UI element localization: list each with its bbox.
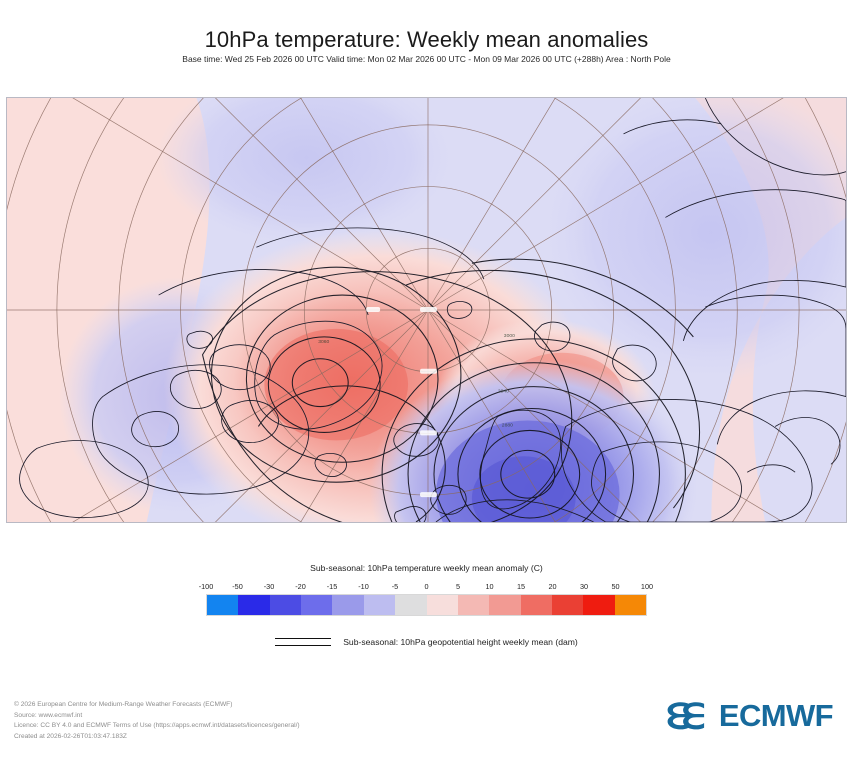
colorbar-swatch-13 <box>615 595 646 615</box>
colorbar-block: Sub-seasonal: 10hPa temperature weekly m… <box>0 563 853 616</box>
colorbar-tick-30: 30 <box>580 582 588 591</box>
colorbar-tick-20: 20 <box>548 582 556 591</box>
colorbar[interactable]: -100-50-30-20-15-10-5051015203050100 <box>206 582 647 616</box>
ecmwf-logo-text: ECMWF <box>719 700 833 731</box>
chart-subtitle: Base time: Wed 25 Feb 2026 00 UTC Valid … <box>0 54 853 64</box>
colorbar-swatch-6 <box>395 595 426 615</box>
colorbar-swatches <box>206 594 647 616</box>
colorbar-tick-10: 10 <box>485 582 493 591</box>
contour-line-sample-icon <box>275 636 331 648</box>
footer-line-copyright: © 2026 European Centre for Medium-Range … <box>14 700 300 711</box>
colorbar-swatch-3 <box>301 595 332 615</box>
colorbar-tick-labels: -100-50-30-20-15-10-5051015203050100 <box>206 582 647 594</box>
ecmwf-logo: ECMWF <box>666 700 833 731</box>
colorbar-tick--5: -5 <box>392 582 399 591</box>
chart-page: 10hPa temperature: Weekly mean anomalies… <box>0 0 853 768</box>
colorbar-swatch-11 <box>552 595 583 615</box>
ecmwf-emblem-icon <box>666 701 712 731</box>
page-title: 10hPa temperature: Weekly mean anomalies <box>0 27 853 53</box>
colorbar-swatch-2 <box>270 595 301 615</box>
svg-text:2940: 2940 <box>498 389 509 395</box>
colorbar-tick--100: -100 <box>199 582 214 591</box>
anomaly-warm-core-inner <box>264 329 408 440</box>
colorbar-tick-0: 0 <box>424 582 428 591</box>
svg-text:3000: 3000 <box>504 333 515 339</box>
colorbar-tick--30: -30 <box>264 582 275 591</box>
svg-text:3060: 3060 <box>318 339 329 345</box>
colorbar-tick--15: -15 <box>327 582 338 591</box>
colorbar-swatch-0 <box>207 595 238 615</box>
colorbar-tick-50: 50 <box>611 582 619 591</box>
footer-credits: © 2026 European Centre for Medium-Range … <box>14 700 300 743</box>
polar-stereographic-map: 3060 3000 2940 2880 <box>7 98 846 522</box>
colorbar-tick--10: -10 <box>358 582 369 591</box>
colorbar-swatch-12 <box>583 595 614 615</box>
colorbar-tick-100: 100 <box>641 582 653 591</box>
svg-text:2880: 2880 <box>502 422 513 428</box>
colorbar-tick-5: 5 <box>456 582 460 591</box>
colorbar-title: Sub-seasonal: 10hPa temperature weekly m… <box>0 563 853 573</box>
colorbar-swatch-1 <box>238 595 269 615</box>
contour-legend-label: Sub-seasonal: 10hPa geopotential height … <box>343 637 578 647</box>
colorbar-tick--50: -50 <box>232 582 243 591</box>
contour-legend: Sub-seasonal: 10hPa geopotential height … <box>0 636 853 648</box>
colorbar-swatch-7 <box>427 595 458 615</box>
colorbar-tick--20: -20 <box>295 582 306 591</box>
colorbar-swatch-8 <box>458 595 489 615</box>
footer-line-source: Source: www.ecmwf.int <box>14 711 300 722</box>
footer-line-created: Created at 2026-02-26T01:03:47.183Z <box>14 732 300 743</box>
colorbar-tick-15: 15 <box>517 582 525 591</box>
colorbar-swatch-10 <box>521 595 552 615</box>
colorbar-swatch-9 <box>489 595 520 615</box>
colorbar-swatch-4 <box>332 595 363 615</box>
colorbar-swatch-5 <box>364 595 395 615</box>
map-panel[interactable]: 3060 3000 2940 2880 <box>6 97 847 523</box>
footer-line-licence: Licence: CC BY 4.0 and ECMWF Terms of Us… <box>14 721 300 732</box>
